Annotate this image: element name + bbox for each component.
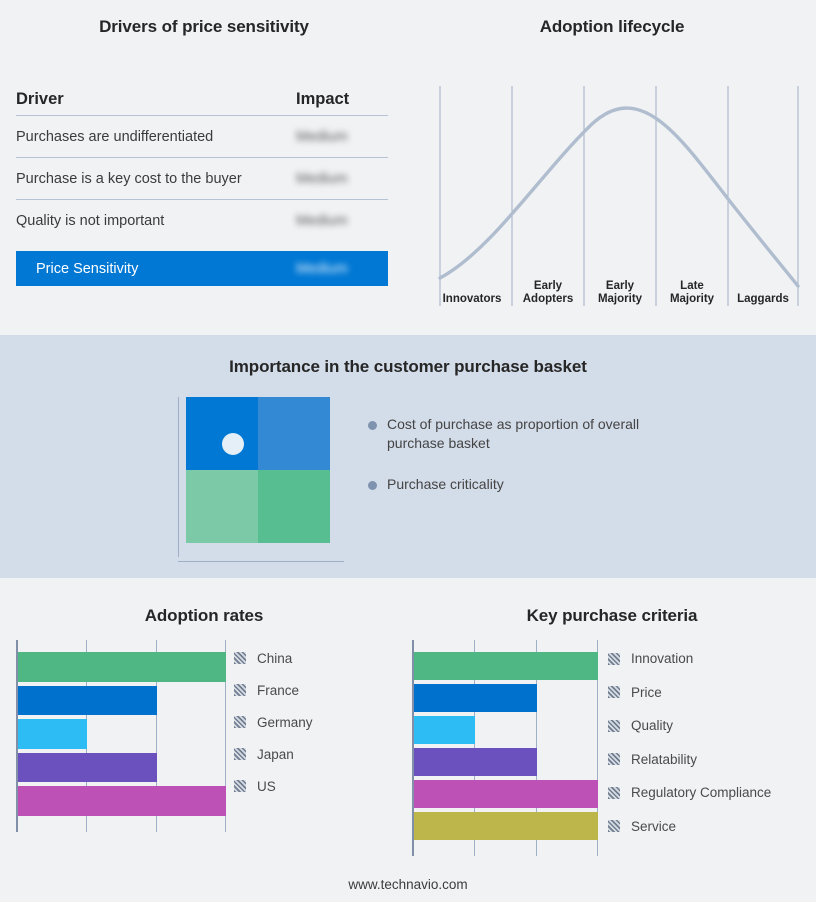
driver-label: Purchases are undifferentiated — [16, 129, 296, 145]
adoption-lifecycle-panel: Adoption lifecycle Innovators Early Adop… — [408, 0, 816, 335]
quadrant-bottom-left — [186, 470, 258, 543]
legend-label: Cost of purchase as proportion of overal… — [387, 415, 647, 453]
legend-item: Purchase criticality — [368, 475, 668, 494]
table-header-row: Driver Impact — [16, 90, 388, 116]
lifecycle-stage-innovators: Innovators — [432, 293, 512, 306]
bar-quality — [414, 716, 475, 744]
bar-us — [18, 786, 226, 816]
top-section: Drivers of price sensitivity Driver Impa… — [0, 0, 816, 335]
matrix-y-axis — [178, 397, 179, 557]
stage-line: Early — [584, 280, 656, 293]
legend-item: Regulatory Compliance — [608, 776, 771, 810]
bar-france — [18, 686, 157, 716]
highlight-impact-blurred: Medium — [296, 261, 388, 277]
legend-label: France — [257, 683, 299, 698]
stage-line: Early — [512, 280, 584, 293]
bar-germany — [18, 719, 87, 749]
legend-item: France — [234, 674, 313, 706]
purchase-basket-section: Importance in the customer purchase bask… — [0, 335, 816, 578]
lifecycle-stage-early-adopters: Early Adopters — [512, 280, 584, 306]
table-row: Purchases are undifferentiated Medium — [16, 116, 388, 158]
quadrant-top-right — [258, 397, 330, 470]
legend-label: Japan — [257, 747, 294, 762]
table-row: Quality is not important Medium — [16, 200, 388, 241]
legend-item: Service — [608, 810, 771, 844]
legend-label: Relatability — [631, 752, 697, 767]
legend-item: Germany — [234, 706, 313, 738]
matrix-position-marker — [222, 433, 244, 455]
legend-label: Price — [631, 685, 662, 700]
quadrant-bottom-right — [258, 470, 330, 543]
column-header-impact: Impact — [296, 90, 388, 109]
bottom-section: Adoption rates ChinaFranceGermanyJapanUS… — [0, 578, 816, 902]
legend-label: Service — [631, 819, 676, 834]
bullet-icon — [368, 481, 377, 490]
bar-relatability — [414, 748, 537, 776]
impact-value-blurred: Medium — [296, 213, 388, 229]
legend-item: China — [234, 642, 313, 674]
lifecycle-stage-late-majority: Late Majority — [656, 280, 728, 306]
highlight-label: Price Sensitivity — [36, 261, 296, 277]
legend-item: Quality — [608, 709, 771, 743]
table-row: Purchase is a key cost to the buyer Medi… — [16, 158, 388, 200]
bar-service — [414, 812, 598, 840]
hatched-square-icon — [608, 820, 620, 832]
hatched-square-icon — [608, 720, 620, 732]
plot-area — [16, 640, 226, 832]
legend-label: US — [257, 779, 276, 794]
hatched-square-icon — [234, 652, 246, 664]
stage-line: Laggards — [728, 293, 798, 306]
adoption-rates-panel: Adoption rates ChinaFranceGermanyJapanUS — [0, 578, 408, 902]
adoption-rates-legend: ChinaFranceGermanyJapanUS — [234, 642, 313, 802]
bar-china — [18, 652, 226, 682]
stage-line: Innovators — [432, 293, 512, 306]
plot-area — [412, 640, 598, 856]
key-purchase-criteria-panel: Key purchase criteria InnovationPriceQua… — [408, 578, 816, 902]
column-header-driver: Driver — [16, 90, 296, 109]
legend-item: Relatability — [608, 743, 771, 777]
drivers-title: Drivers of price sensitivity — [0, 17, 408, 37]
legend-label: Innovation — [631, 651, 693, 666]
bar-innovation — [414, 652, 598, 680]
matrix-quadrants — [186, 397, 330, 543]
matrix-x-axis — [178, 561, 344, 562]
lifecycle-stage-laggards: Laggards — [728, 293, 798, 306]
lifecycle-title: Adoption lifecycle — [408, 17, 816, 37]
bar-regulatory-compliance — [414, 780, 598, 808]
driver-label: Quality is not important — [16, 213, 296, 229]
hatched-square-icon — [608, 653, 620, 665]
lifecycle-stage-early-majority: Early Majority — [584, 280, 656, 306]
bell-curve-svg — [432, 80, 804, 312]
key-purchase-criteria-title: Key purchase criteria — [408, 606, 816, 626]
hatched-square-icon — [608, 686, 620, 698]
stage-line: Late — [656, 280, 728, 293]
stage-line: Majority — [656, 293, 728, 306]
stage-line: Majority — [584, 293, 656, 306]
legend-item: US — [234, 770, 313, 802]
stage-line: Adopters — [512, 293, 584, 306]
lifecycle-chart: Innovators Early Adopters Early Majority… — [432, 80, 804, 312]
bar-japan — [18, 753, 157, 783]
key-purchase-criteria-legend: InnovationPriceQualityRelatabilityRegula… — [608, 642, 771, 843]
price-sensitivity-highlight-row: Price Sensitivity Medium — [16, 251, 388, 286]
adoption-rates-title: Adoption rates — [0, 606, 408, 626]
legend-label: China — [257, 651, 292, 666]
legend-label: Quality — [631, 718, 673, 733]
impact-value-blurred: Medium — [296, 171, 388, 187]
legend-item: Innovation — [608, 642, 771, 676]
drivers-table: Driver Impact Purchases are undifferenti… — [16, 90, 388, 286]
bell-curve-path — [440, 108, 798, 286]
stage-divider-lines — [440, 86, 798, 306]
legend-label: Germany — [257, 715, 313, 730]
hatched-square-icon — [234, 684, 246, 696]
adoption-rates-chart — [16, 640, 226, 832]
bullet-icon — [368, 421, 377, 430]
hatched-square-icon — [234, 716, 246, 728]
drivers-panel: Drivers of price sensitivity Driver Impa… — [0, 0, 408, 335]
impact-value-blurred: Medium — [296, 129, 388, 145]
legend-label: Regulatory Compliance — [631, 785, 771, 800]
hatched-square-icon — [608, 753, 620, 765]
hatched-square-icon — [608, 787, 620, 799]
legend-label: Purchase criticality — [387, 475, 504, 494]
purchase-basket-matrix — [178, 397, 338, 562]
driver-label: Purchase is a key cost to the buyer — [16, 171, 296, 187]
basket-title: Importance in the customer purchase bask… — [0, 357, 816, 377]
hatched-square-icon — [234, 780, 246, 792]
legend-item: Cost of purchase as proportion of overal… — [368, 415, 668, 453]
hatched-square-icon — [234, 748, 246, 760]
basket-legend: Cost of purchase as proportion of overal… — [368, 415, 668, 516]
legend-item: Price — [608, 676, 771, 710]
bar-price — [414, 684, 537, 712]
footer-url: www.technavio.com — [0, 877, 816, 892]
quadrant-top-left — [186, 397, 258, 470]
key-purchase-criteria-chart — [412, 640, 598, 856]
legend-item: Japan — [234, 738, 313, 770]
